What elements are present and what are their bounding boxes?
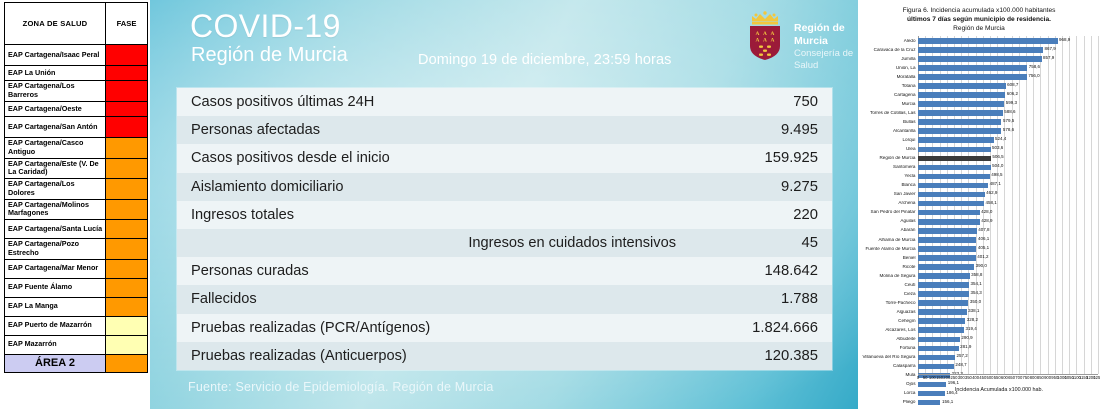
stat-row: Ingresos totales220 — [177, 201, 832, 229]
chart-bar-row: Molina de Segura358,8 — [860, 272, 1098, 281]
chart-category-label: Cartagena — [860, 93, 918, 98]
chart-bar — [918, 128, 1001, 134]
chart-x-tick: 600 — [1001, 376, 1008, 380]
table-row: EAP Cartagena/Este (V. De La Caridad) — [5, 158, 148, 179]
chart-category-label: Cehegín — [860, 319, 918, 324]
stat-label: Aislamiento domiciliario — [177, 173, 690, 201]
chart-bar-row: San Pedro del Pinatar428,0 — [860, 208, 1098, 217]
chart-bar — [918, 174, 990, 180]
covid-stats-table: Casos positivos últimas 24H750Personas a… — [177, 88, 832, 370]
chart-bar-row: Blanca487,1 — [860, 181, 1098, 190]
column-header-fase: FASE — [106, 3, 148, 45]
fase-color-cell — [106, 278, 148, 297]
svg-text:A: A — [756, 31, 760, 37]
chart-bar-value: 156,1 — [940, 400, 953, 405]
svg-text:A: A — [756, 38, 760, 44]
chart-bar-value: 758,6 — [1027, 65, 1040, 70]
chart-bar-row: Archena458,1 — [860, 199, 1098, 208]
chart-bar — [918, 237, 976, 243]
chart-bar — [918, 101, 1004, 107]
chart-x-tick: 50 — [923, 376, 928, 380]
chart-bar-row: Lorca186,4 — [860, 389, 1098, 398]
chart-gridline — [1098, 36, 1099, 374]
chart-bar-value: 578,6 — [1001, 128, 1014, 133]
chart-bar — [918, 246, 976, 252]
chart-bar-value: 354,1 — [969, 282, 982, 287]
chart-bar — [918, 210, 980, 216]
chart-x-tick: 100 — [929, 376, 936, 380]
zone-name-cell: EAP La Manga — [5, 297, 106, 316]
chart-bar — [918, 355, 955, 361]
zone-name-cell: EAP Cartagena/Pozo Estrecho — [5, 239, 106, 260]
chart-bar-value: 390,0 — [974, 264, 987, 269]
chart-title-line-3: Región de Murcia — [866, 24, 1092, 33]
chart-bar-cell: 354,1 — [918, 281, 1098, 290]
chart-bar-cell: 857,9 — [918, 54, 1098, 63]
fase-color-cell — [106, 297, 148, 316]
chart-bar-row: Águilas428,9 — [860, 217, 1098, 226]
chart-bar — [918, 38, 1058, 44]
chart-bar-row: Ricote390,0 — [860, 262, 1098, 271]
chart-bar — [918, 400, 940, 406]
chart-bar-row: Albudeite290,9 — [860, 335, 1098, 344]
chart-bar-cell: 606,2 — [918, 91, 1098, 100]
chart-bar-value: 257,2 — [955, 354, 968, 359]
chart-bar-row: Cehegín328,2 — [860, 317, 1098, 326]
chart-bar-cell: 156,1 — [918, 398, 1098, 407]
chart-x-tick: 300 — [958, 376, 965, 380]
chart-category-label: Unión, La — [860, 66, 918, 71]
chart-bar-cell: 506,5 — [918, 154, 1098, 163]
zone-name-cell: EAP Cartagena/Los Dolores — [5, 179, 106, 200]
chart-category-label: Lorquí — [860, 138, 918, 143]
chart-category-label: San Pedro del Pinatar — [860, 210, 918, 215]
chart-bar — [918, 183, 988, 189]
chart-bar-row: Cieza354,3 — [860, 290, 1098, 299]
chart-bar-row: Torre-Pacheco350,0 — [860, 299, 1098, 308]
fase-color-cell — [106, 259, 148, 278]
chart-category-label: Beniel — [860, 256, 918, 261]
chart-bar — [918, 391, 945, 397]
table-row: EAP Cartagena/San Antón — [5, 117, 148, 138]
stat-label: Casos positivos últimas 24H — [177, 88, 690, 116]
chart-bar-value: 857,9 — [1042, 56, 1055, 61]
logo-line-1: Región de Murcia — [794, 22, 854, 48]
svg-text:A: A — [763, 38, 767, 44]
chart-bar-row: Ceutí354,1 — [860, 281, 1098, 290]
chart-category-label: Caravaca de la Cruz — [860, 48, 918, 53]
stat-row: Casos positivos últimas 24H750 — [177, 88, 832, 116]
chart-category-label: Alcantarilla — [860, 129, 918, 134]
chart-bar-cell: 504,0 — [918, 163, 1098, 172]
chart-bar-cell: 281,9 — [918, 344, 1098, 353]
chart-bar-value: 428,0 — [980, 210, 993, 215]
fase-color-cell — [106, 179, 148, 200]
chart-bar — [918, 192, 985, 198]
chart-bar — [918, 337, 960, 343]
chart-bar — [918, 147, 991, 153]
chart-category-label: Abarán — [860, 228, 918, 233]
chart-category-label: Ceutí — [860, 283, 918, 288]
chart-bar-cell: 248,7 — [918, 362, 1098, 371]
chart-category-label: Murcia — [860, 102, 918, 107]
chart-bar-value: 290,9 — [960, 336, 973, 341]
chart-bar — [918, 201, 984, 207]
chart-bar-row: Alcázares, Los319,4 — [860, 326, 1098, 335]
chart-x-tick: 900 — [1044, 376, 1051, 380]
stat-value: 9.495 — [690, 116, 832, 144]
table-row: EAP Mazarrón — [5, 335, 148, 354]
stat-row: Casos positivos desde el inicio159.925 — [177, 144, 832, 172]
fase-color-cell — [106, 220, 148, 239]
zone-name-cell: EAP Puerto de Mazarrón — [5, 316, 106, 335]
chart-category-label: Villanueva del Río Segura — [860, 355, 918, 360]
table-row: EAP Cartagena/Mar Menor — [5, 259, 148, 278]
chart-category-label: Cieza — [860, 292, 918, 297]
fase-color-cell — [106, 335, 148, 354]
zone-name-cell: EAP Fuente Álamo — [5, 278, 106, 297]
source-note: Fuente: Servicio de Epidemiología. Regió… — [188, 380, 494, 394]
chart-title-line-1: Figura 6. Incidencia acumulada x100.000 … — [866, 6, 1092, 15]
chart-bar-cell: 354,3 — [918, 290, 1098, 299]
chart-x-tick: 350 — [965, 376, 972, 380]
zone-name-cell: EAP Cartagena/Santa Lucía — [5, 220, 106, 239]
chart-category-label: Ulea — [860, 147, 918, 152]
stat-row: Personas afectadas9.495 — [177, 116, 832, 144]
chart-bar-value: 599,3 — [1004, 101, 1017, 106]
chart-bar — [918, 228, 977, 234]
chart-bar — [918, 137, 994, 143]
chart-bar-value: 498,5 — [990, 173, 1003, 178]
chart-bar-value: 328,2 — [965, 318, 978, 323]
chart-bar-row: Pliego156,1 — [860, 398, 1098, 407]
chart-bar-value: 579,5 — [1001, 119, 1014, 124]
dashboard-root: ZONA DE SALUD FASE EAP Cartagena/Isaac P… — [0, 0, 1100, 409]
chart-bar — [918, 56, 1042, 62]
stat-value: 1.824.666 — [690, 314, 832, 342]
chart-bar-value: 401,2 — [976, 255, 989, 260]
chart-x-axis: 0501001502002503003504004505005506006507… — [918, 374, 1098, 384]
page-subtitle: Región de Murcia — [191, 44, 348, 67]
chart-category-label: Alhama de Murcia — [860, 238, 918, 243]
chart-category-label: Albudeite — [860, 337, 918, 342]
chart-bar-cell: 524,4 — [918, 136, 1098, 145]
stat-value: 159.925 — [690, 144, 832, 172]
chart-bar — [918, 165, 991, 171]
chart-bar-value: 504,0 — [991, 164, 1004, 169]
chart-bar — [918, 47, 1043, 53]
chart-bar-value: 506,5 — [991, 155, 1004, 160]
chart-bar-cell: 578,6 — [918, 127, 1098, 136]
chart-bar-row: Fuente Álamo de Murcia405,1 — [860, 244, 1098, 253]
chart-bar-cell: 756,0 — [918, 72, 1098, 81]
stat-label: Personas curadas — [177, 257, 690, 285]
chart-bar-cell: 599,3 — [918, 100, 1098, 109]
chart-bar — [918, 346, 959, 352]
chart-bar-row: Abarán407,8 — [860, 226, 1098, 235]
chart-bar-value: 487,1 — [988, 182, 1001, 187]
fase-color-cell — [106, 45, 148, 66]
chart-bar-value: 503,6 — [991, 146, 1004, 151]
chart-bar — [918, 156, 991, 162]
chart-category-label: Totana — [860, 84, 918, 89]
chart-bar — [918, 65, 1027, 71]
table-row: EAP Cartagena/Santa Lucía — [5, 220, 148, 239]
chart-category-label: Molina de Segura — [860, 274, 918, 279]
chart-bar-value: 588,6 — [1003, 110, 1016, 115]
table-row: EAP Cartagena/Los Dolores — [5, 179, 148, 200]
table-row: EAP La Manga — [5, 297, 148, 316]
fase-color-cell — [106, 158, 148, 179]
chart-x-tick: 150 — [936, 376, 943, 380]
chart-bar-row: Unión, La758,6 — [860, 63, 1098, 72]
chart-bar-row: Lorquí524,4 — [860, 136, 1098, 145]
chart-bar — [918, 282, 969, 288]
chart-category-label: Pliego — [860, 400, 918, 405]
zone-name-cell: EAP Cartagena/Molinos Marfagones — [5, 199, 106, 220]
murcia-coat-of-arms-icon: AAA AAA — [742, 8, 788, 62]
chart-bar-value: 524,4 — [994, 137, 1007, 142]
stat-value: 1.788 — [690, 285, 832, 313]
chart-bar-cell: 290,9 — [918, 335, 1098, 344]
chart-category-label: Blanca — [860, 183, 918, 188]
page-title: COVID-19 — [190, 8, 341, 45]
chart-bar-row: Caravaca de la Cruz867,9 — [860, 45, 1098, 54]
region-logo: AAA AAA Región de Murcia — [742, 8, 854, 62]
chart-bar-cell: 319,4 — [918, 326, 1098, 335]
svg-text:A: A — [771, 31, 775, 37]
chart-bar-cell: 487,1 — [918, 181, 1098, 190]
chart-bar-cell: 428,9 — [918, 217, 1098, 226]
zone-name-cell: EAP Cartagena/Mar Menor — [5, 259, 106, 278]
stat-label: Ingresos en cuidados intensivos — [177, 229, 690, 257]
chart-x-tick: 750 — [1023, 376, 1030, 380]
chart-x-tick: 550 — [994, 376, 1001, 380]
chart-x-tick: 800 — [1030, 376, 1037, 380]
stat-row: Pruebas realizadas (PCR/Antígenos)1.824.… — [177, 314, 832, 342]
stat-label: Ingresos totales — [177, 201, 690, 229]
chart-bar — [918, 318, 965, 324]
chart-category-label: Aledo — [860, 39, 918, 44]
zone-name-cell: EAP Cartagena/San Antón — [5, 117, 106, 138]
chart-bar-cell: 405,1 — [918, 244, 1098, 253]
fase-color-cell — [106, 66, 148, 81]
chart-bar-row: Torres de Cotillas, Las588,6 — [860, 109, 1098, 118]
chart-bar — [918, 300, 968, 306]
stat-row: Fallecidos1.788 — [177, 285, 832, 313]
stat-label: Fallecidos — [177, 285, 690, 313]
fase-color-cell — [106, 239, 148, 260]
chart-bar-value: 462,9 — [985, 191, 998, 196]
svg-text:A: A — [763, 31, 767, 37]
chart-bar-value: 406,1 — [976, 237, 989, 242]
chart-bar-cell: 401,2 — [918, 253, 1098, 262]
chart-bar-row: Yecla498,5 — [860, 172, 1098, 181]
chart-bar-cell: 358,8 — [918, 272, 1098, 281]
table-row: EAP Cartagena/Pozo Estrecho — [5, 239, 148, 260]
zone-name-cell: EAP Cartagena/Isaac Peral — [5, 45, 106, 66]
stat-value: 9.275 — [690, 173, 832, 201]
chart-bar-value: 968,9 — [1058, 38, 1071, 43]
chart-plot-area: Aledo968,9Caravaca de la Cruz867,9Jumill… — [860, 36, 1098, 374]
report-timestamp: Domingo 19 de diciembre, 23:59 horas — [418, 52, 671, 68]
chart-bar-value: 405,1 — [976, 246, 989, 251]
chart-bar-value: 867,9 — [1043, 47, 1056, 52]
fase-color-cell — [106, 102, 148, 117]
chart-bar-cell: 968,9 — [918, 36, 1098, 45]
chart-bar — [918, 291, 969, 297]
fase-color-cell — [106, 81, 148, 102]
covid-stats-body: Casos positivos últimas 24H750Personas a… — [177, 88, 832, 370]
chart-bar-row: Bullas579,5 — [860, 118, 1098, 127]
chart-bar-cell: 588,6 — [918, 109, 1098, 118]
chart-bar-cell: 257,2 — [918, 353, 1098, 362]
chart-x-tick: 200 — [943, 376, 950, 380]
stat-value: 120.385 — [690, 342, 832, 370]
area-summary-row: ÁREA 2 — [5, 354, 148, 372]
chart-bar-value: 608,7 — [1006, 83, 1019, 88]
chart-bar-cell: 328,2 — [918, 317, 1098, 326]
zone-name-cell: EAP Cartagena/Este (V. De La Caridad) — [5, 158, 106, 179]
fase-color-cell — [106, 316, 148, 335]
chart-bar-cell: 503,6 — [918, 145, 1098, 154]
chart-bar-value: 407,8 — [977, 228, 990, 233]
stat-value: 45 — [690, 229, 832, 257]
chart-category-label: Alguazas — [860, 310, 918, 315]
chart-bar-row: Fortuna281,9 — [860, 344, 1098, 353]
chart-x-tick: 700 — [1015, 376, 1022, 380]
chart-bar-cell: 406,1 — [918, 235, 1098, 244]
chart-bar — [918, 327, 964, 333]
chart-bar-row: San Javier462,9 — [860, 190, 1098, 199]
chart-bar-row: Jumilla857,9 — [860, 54, 1098, 63]
chart-category-label: Mula — [860, 373, 918, 378]
fase-color-cell — [106, 138, 148, 159]
chart-category-label: Torres de Cotillas, Las — [860, 111, 918, 116]
chart-title: Figura 6. Incidencia acumulada x100.000 … — [860, 3, 1098, 35]
table-header: ZONA DE SALUD FASE — [5, 3, 148, 45]
chart-bar-value: 186,4 — [945, 391, 958, 396]
fase-color-cell — [106, 199, 148, 220]
chart-bar — [918, 255, 976, 261]
chart-bar-row: Santomera504,0 — [860, 163, 1098, 172]
chart-bar-cell: 608,7 — [918, 82, 1098, 91]
fase-color-cell — [106, 117, 148, 138]
chart-bar-cell: 428,0 — [918, 208, 1098, 217]
chart-bar-value: 428,9 — [980, 219, 993, 224]
table-row: EAP La Unión — [5, 66, 148, 81]
chart-bar-row: Ulea503,6 — [860, 145, 1098, 154]
table-row: EAP Fuente Álamo — [5, 278, 148, 297]
zone-name-cell: EAP La Unión — [5, 66, 106, 81]
chart-bar-row: Cartagena606,2 — [860, 91, 1098, 100]
chart-x-tick: 400 — [972, 376, 979, 380]
chart-bar — [918, 219, 980, 225]
chart-category-label: Torre-Pacheco — [860, 301, 918, 306]
chart-bar — [918, 364, 954, 370]
chart-category-label: San Javier — [860, 192, 918, 197]
stat-label: Pruebas realizadas (Anticuerpos) — [177, 342, 690, 370]
stat-row: Aislamiento domiciliario9.275 — [177, 173, 832, 201]
chart-category-label: Moratalla — [860, 75, 918, 80]
table-body: EAP Cartagena/Isaac PeralEAP La UniónEAP… — [5, 45, 148, 373]
chart-category-label: Santomera — [860, 165, 918, 170]
stat-value: 750 — [690, 88, 832, 116]
logo-line-2: Consejería de Salud — [794, 48, 854, 72]
chart-bar — [918, 264, 974, 270]
chart-bar-cell: 338,1 — [918, 308, 1098, 317]
chart-bar-row: Moratalla756,0 — [860, 72, 1098, 81]
chart-x-tick: 1250 — [1093, 376, 1100, 380]
chart-bar — [918, 83, 1006, 89]
chart-bar-row: Calasparra248,7 — [860, 362, 1098, 371]
chart-x-tick: 850 — [1037, 376, 1044, 380]
chart-bar-cell: 758,6 — [918, 63, 1098, 72]
chart-bar-cell: 390,0 — [918, 262, 1098, 271]
chart-bar-cell: 407,8 — [918, 226, 1098, 235]
chart-bar — [918, 74, 1027, 80]
chart-category-label: Ricote — [860, 265, 918, 270]
chart-bar-cell: 462,9 — [918, 190, 1098, 199]
chart-category-label: Archena — [860, 201, 918, 206]
table-row: EAP Puerto de Mazarrón — [5, 316, 148, 335]
table-row: EAP Cartagena/Oeste — [5, 102, 148, 117]
chart-bar-cell: 458,1 — [918, 199, 1098, 208]
chart-bar-value: 756,0 — [1027, 74, 1040, 79]
stat-label: Personas afectadas — [177, 116, 690, 144]
chart-category-label: Lorca — [860, 391, 918, 396]
chart-bar-row: Aledo968,9 — [860, 36, 1098, 45]
chart-bar-row: Murcia599,3 — [860, 100, 1098, 109]
stat-label: Casos positivos desde el inicio — [177, 144, 690, 172]
chart-bar-cell: 186,4 — [918, 389, 1098, 398]
chart-category-label: Ojós — [860, 382, 918, 387]
stat-row: Personas curadas148.642 — [177, 257, 832, 285]
zone-name-cell: EAP Cartagena/Oeste — [5, 102, 106, 117]
stat-value: 220 — [690, 201, 832, 229]
zone-name-cell: EAP Cartagena/Los Barreros — [5, 81, 106, 102]
chart-category-label: Águilas — [860, 219, 918, 224]
zone-name-cell: EAP Mazarrón — [5, 335, 106, 354]
chart-category-label: Jumilla — [860, 57, 918, 62]
chart-bar-cell: 579,5 — [918, 118, 1098, 127]
chart-category-label: Calasparra — [860, 364, 918, 369]
chart-x-tick: 500 — [987, 376, 994, 380]
stat-label: Pruebas realizadas (PCR/Antígenos) — [177, 314, 690, 342]
chart-category-label: Fuente Álamo de Murcia — [860, 247, 918, 252]
covid-summary-panel: COVID-19 Región de Murcia Domingo 19 de … — [150, 0, 858, 409]
chart-bar-row: Alguazas338,1 — [860, 308, 1098, 317]
chart-title-line-2: últimos 7 días según municipio de reside… — [866, 15, 1092, 24]
chart-x-tick: 450 — [979, 376, 986, 380]
chart-bar-value: 358,8 — [970, 273, 983, 278]
area-label: ÁREA 2 — [5, 354, 106, 372]
table-row: EAP Cartagena/Molinos Marfagones — [5, 199, 148, 220]
chart-category-label: Región de Murcia — [860, 156, 918, 161]
chart-x-tick: 650 — [1008, 376, 1015, 380]
chart-bar-row: Totana608,7 — [860, 82, 1098, 91]
chart-bar-value: 248,7 — [954, 363, 967, 368]
health-zones-panel: ZONA DE SALUD FASE EAP Cartagena/Isaac P… — [0, 0, 150, 409]
chart-bar-cell: 498,5 — [918, 172, 1098, 181]
chart-category-label: Yecla — [860, 174, 918, 179]
chart-bar — [918, 273, 970, 279]
chart-bar-value: 606,2 — [1005, 92, 1018, 97]
chart-bar-value: 319,4 — [964, 327, 977, 332]
table-row: EAP Cartagena/Isaac Peral — [5, 45, 148, 66]
incidence-chart-panel: Figura 6. Incidencia acumulada x100.000 … — [858, 0, 1100, 409]
table-row: EAP Cartagena/Casco Antiguo — [5, 138, 148, 159]
